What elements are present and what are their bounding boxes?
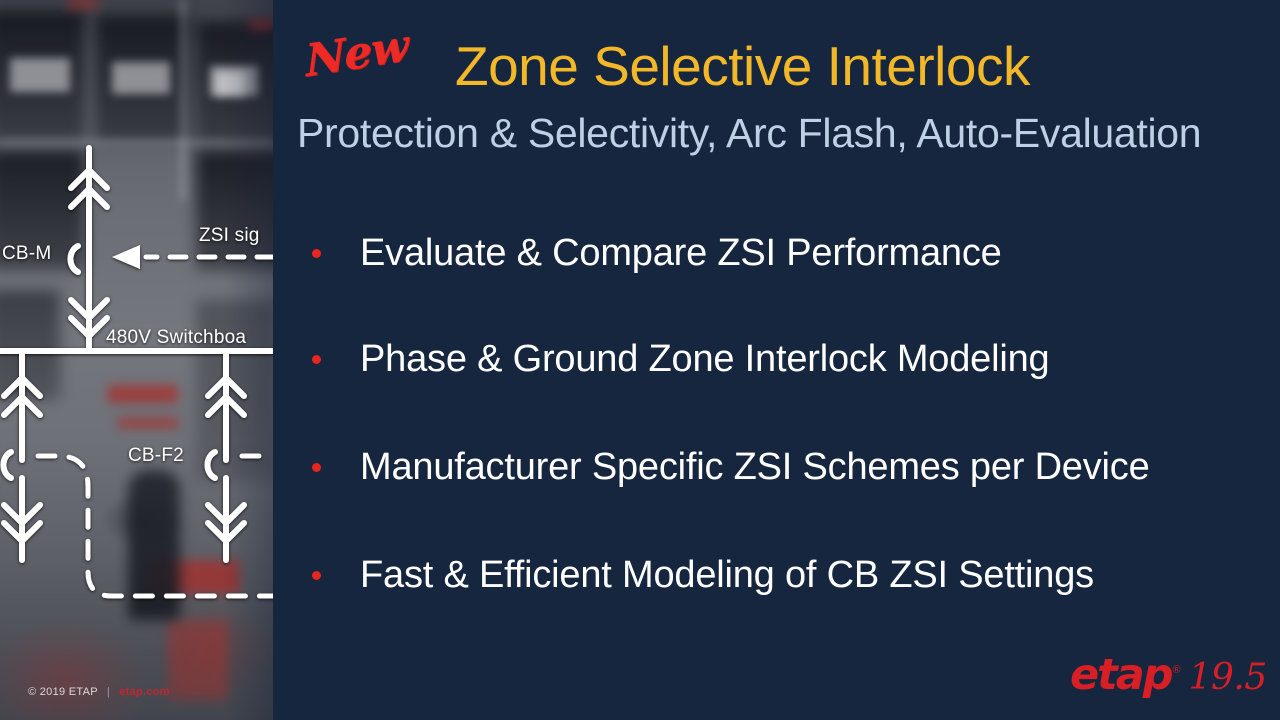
bullet-dot-icon <box>312 249 321 258</box>
list-item: Evaluate & Compare ZSI Performance <box>312 230 1002 276</box>
list-item-label: Evaluate & Compare ZSI Performance <box>360 232 1002 275</box>
diagram-label-zsi-signal: ZSI sig <box>199 225 260 247</box>
list-item-label: Phase & Ground Zone Interlock Modeling <box>360 338 1049 381</box>
diagram-label-cb-f2: CB-F2 <box>128 445 184 467</box>
bullet-dot-icon <box>312 355 321 364</box>
diagram-label-cb-m: CB-M <box>2 243 51 265</box>
etap-wordmark: etap <box>1070 650 1172 700</box>
zsi-signal-main-arrowhead <box>112 245 140 269</box>
etap-version: 19.5 <box>1189 657 1267 698</box>
footer-copyright: © 2019 ETAP <box>28 686 98 698</box>
list-item: Manufacturer Specific ZSI Schemes per De… <box>312 444 1150 490</box>
cb-f2-contact <box>207 452 215 478</box>
list-item-label: Manufacturer Specific ZSI Schemes per De… <box>360 446 1150 489</box>
footer-website-link[interactable]: etap.com <box>119 686 170 698</box>
one-line-diagram <box>0 0 273 720</box>
page-title: Zone Selective Interlock <box>455 34 1030 98</box>
footer-separator: | <box>107 686 110 698</box>
list-item: Phase & Ground Zone Interlock Modeling <box>312 336 1049 382</box>
etap-logo: etap ® 19.5 <box>1070 650 1267 700</box>
cb-m-contact <box>70 246 78 272</box>
switchgear-photo-panel: CB-M ZSI sig 480V Switchboa CB-F2 © 2019… <box>0 0 273 720</box>
cb-f1-contact <box>3 452 11 478</box>
list-item: Fast & Efficient Modeling of CB ZSI Sett… <box>312 552 1094 598</box>
footer: © 2019 ETAP | etap.com <box>28 686 170 698</box>
bullet-dot-icon <box>312 571 321 580</box>
slide-root: CB-M ZSI sig 480V Switchboa CB-F2 © 2019… <box>0 0 1280 720</box>
diagram-label-switchboard: 480V Switchboa <box>106 327 246 349</box>
registered-trademark-icon: ® <box>1173 664 1181 676</box>
page-subtitle: Protection & Selectivity, Arc Flash, Aut… <box>297 110 1201 157</box>
list-item-label: Fast & Efficient Modeling of CB ZSI Sett… <box>360 554 1094 597</box>
bullet-dot-icon <box>312 463 321 472</box>
